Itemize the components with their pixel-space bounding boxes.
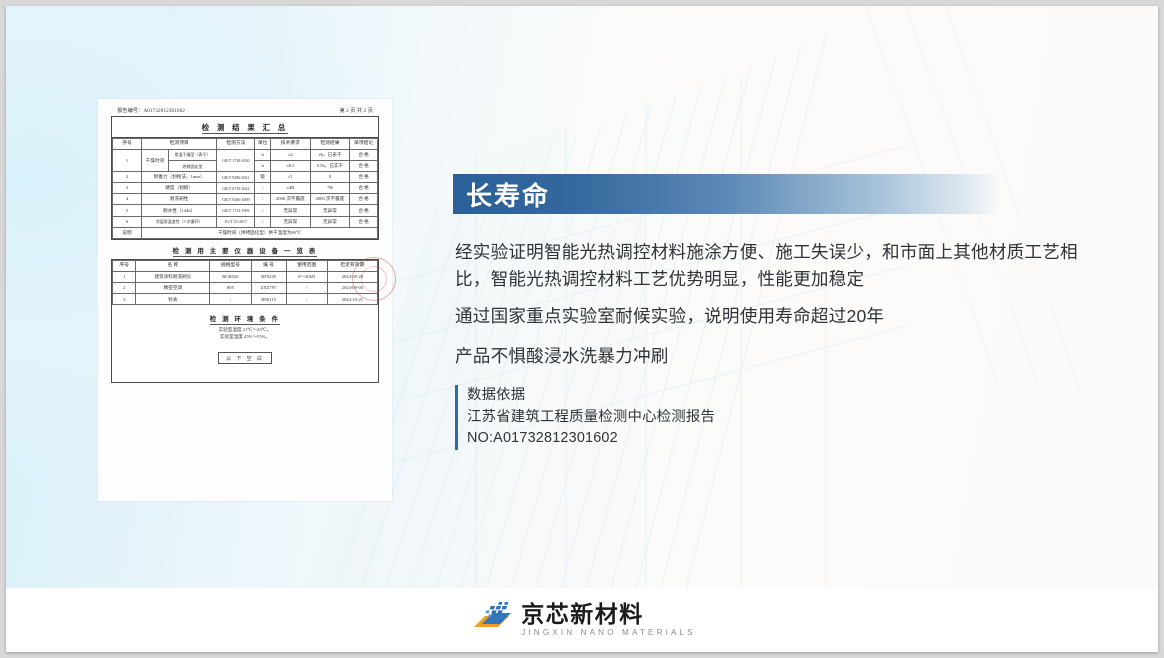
cell-conclusion: 合 格 — [350, 149, 378, 160]
cell-method: GB/T 9286-2021 — [217, 172, 255, 183]
col-unit: 单位 — [255, 138, 271, 149]
eq-no: 3 — [113, 294, 136, 305]
cell-item-sub: 烘烤固化型 — [168, 160, 217, 171]
brand-name-en: JINGXIN NANO MATERIALS — [521, 628, 696, 638]
cell-no: 4 — [113, 194, 142, 205]
table-header-row: 序号 检测项目 检测方法 单位 技术要求 检测结果 单项结论 — [113, 138, 378, 149]
eq-col-name: 名 称 — [136, 260, 210, 271]
cell-requirement: 无异常 — [271, 216, 311, 227]
cell-method: JG/T 25-2017 — [217, 216, 255, 227]
data-source-block: 数据依据 江苏省建筑工程质量检测中心检测报告 NO:A0173281230160… — [455, 385, 887, 450]
cell-conclusion: 合 格 — [350, 194, 378, 205]
eq-serial: ZXZ797 — [251, 283, 286, 294]
table-row: 4 耐洗刷性 GB/T 9266-2009 / 2000 次不露底 2000 次… — [113, 194, 378, 205]
eq-range: / — [286, 294, 327, 305]
cell-conclusion: 合 格 — [350, 172, 378, 183]
cell-requirement: 无异常 — [271, 205, 311, 216]
report-page: 报告编号：A01732812301602 第 2 页 共 2 页 检 测 结 果… — [111, 107, 379, 491]
cell-no: 2 — [113, 172, 142, 183]
report-equipment-box: 序号 名 称 规格型号 编 号 使用范围 检定有效期 1 建筑涂 — [111, 259, 379, 383]
eq-model: BGB526 — [210, 272, 251, 283]
col-no: 序号 — [113, 138, 142, 149]
cell-requirement: ≤1 — [271, 172, 311, 183]
note-text: 干燥时间（烘烤固化型）烘干温度为80℃ — [142, 227, 378, 238]
results-table-title: 检 测 结 果 汇 总 — [112, 117, 378, 138]
cell-result: 无异常 — [310, 216, 350, 227]
col-requirement: 技术要求 — [271, 138, 311, 149]
report-results-box: 检 测 结 果 汇 总 序号 检测项目 检测方法 单位 技术要求 检测结果 — [111, 116, 379, 240]
cell-unit: / — [255, 194, 271, 205]
cell-item-sub: 耐水性（144h） — [142, 205, 217, 216]
cell-result: 7H — [310, 183, 350, 194]
eq-model: / — [210, 294, 251, 305]
cell-conclusion: 合 格 — [350, 160, 378, 171]
cell-result: 0.5h，已实干 — [310, 160, 350, 171]
cell-method: GB/T 1728-2020 — [217, 149, 255, 171]
paragraph-3: 产品不惧酸浸水洗暴力冲刷 — [455, 343, 1101, 370]
report-number: 报告编号：A01732812301602 — [117, 107, 185, 114]
cell-unit: / — [255, 183, 271, 194]
results-table: 序号 检测项目 检测方法 单位 技术要求 检测结果 单项结论 1 — [112, 138, 378, 239]
eq-no: 2 — [113, 283, 136, 294]
eq-no: 1 — [113, 272, 136, 283]
brand-logo-text: 京芯新材料 JINGXIN NANO MATERIALS — [521, 602, 696, 638]
equipment-row: 3 秒表 / H90115 / 2024-10-21 — [113, 294, 378, 305]
test-report-photo[interactable]: 报告编号：A01732812301602 第 2 页 共 2 页 检 测 结 果… — [98, 99, 392, 501]
paragraph-2: 通过国家重点实验室耐候实验，说明使用寿命超过20年 — [455, 303, 1101, 330]
slide-footer: 京芯新材料 JINGXIN NANO MATERIALS — [6, 588, 1158, 652]
cell-unit: 级 — [255, 172, 271, 183]
table-row: 2 附着力（划格法，1mm） GB/T 9286-2021 级 ≤1 0 合 格 — [113, 172, 378, 183]
eq-validity: 2024-09-05 — [327, 283, 377, 294]
cell-item-group: 干燥时间 — [142, 149, 169, 171]
cell-result: 无异常 — [310, 205, 350, 216]
cell-requirement: 2000 次不露底 — [271, 194, 311, 205]
slide: 报告编号：A01732812301602 第 2 页 共 2 页 检 测 结 果… — [6, 6, 1158, 652]
report-header: 报告编号：A01732812301602 第 2 页 共 2 页 — [111, 107, 379, 116]
cell-method: GB/T 1733-1993 — [217, 205, 255, 216]
eq-model: 805 — [210, 283, 251, 294]
cell-no: 6 — [113, 216, 142, 227]
cell-method: GB/T 9266-2009 — [217, 194, 255, 205]
report-page-number: 第 2 页 共 2 页 — [339, 107, 373, 114]
eq-serial: BF0239 — [251, 272, 286, 283]
eq-col-serial: 编 号 — [251, 260, 286, 271]
blank-below-mark: 以 下 空 白 — [218, 352, 272, 364]
brand-name-cn: 京芯新材料 — [521, 602, 696, 627]
cell-result: 2h，已表干 — [310, 149, 350, 160]
col-conclusion: 单项结论 — [350, 138, 378, 149]
paragraph-1: 经实验证明智能光热调控材料施涂方便、施工失误少，和市面上其他材质工艺相比，智能光… — [455, 239, 1101, 293]
table-row: 6 涂层耐温变性（5 次循环） JG/T 25-2017 / 无异常 无异常 合… — [113, 216, 378, 227]
col-item: 检测项目 — [142, 138, 217, 149]
eq-name: 建筑涂料耐洗刷仪 — [136, 272, 210, 283]
cell-unit: h — [255, 149, 271, 160]
cell-unit: h — [255, 160, 271, 171]
cell-requirement: ≥4H — [271, 183, 311, 194]
cell-item-sub: 常温干燥型（表干） — [168, 149, 217, 160]
data-source-number: NO:A01732812301602 — [467, 428, 887, 450]
cell-conclusion: 合 格 — [350, 183, 378, 194]
environment-humidity: 实验室湿度 45%～55%。 — [112, 334, 378, 341]
eq-serial: H90115 — [251, 294, 286, 305]
data-source-label: 数据依据 — [467, 385, 887, 407]
cell-unit: / — [255, 216, 271, 227]
cell-no: 1 — [113, 149, 142, 171]
note-label: 说明 — [113, 227, 142, 238]
eq-validity: 2024-05-28 — [327, 272, 377, 283]
eq-col-model: 规格型号 — [210, 260, 251, 271]
cell-no: 3 — [113, 183, 142, 194]
equipment-table: 序号 名 称 规格型号 编 号 使用范围 检定有效期 1 建筑涂 — [112, 260, 378, 306]
eq-col-range: 使用范围 — [286, 260, 327, 271]
cell-method: GB/T 6739-2022 — [217, 183, 255, 194]
section-title-bar: 长寿命 — [453, 174, 1001, 214]
slide-content-band: 报告编号：A01732812301602 第 2 页 共 2 页 检 测 结 果… — [6, 6, 1158, 588]
cell-result: 2000 次不露底 — [310, 194, 350, 205]
eq-name: 精密空调 — [136, 283, 210, 294]
equipment-row: 1 建筑涂料耐洗刷仪 BGB526 BF0239 0～20kN 2024-05-… — [113, 272, 378, 283]
table-row: 1 干燥时间 常温干燥型（表干） GB/T 1728-2020 h ≤2 2h，… — [113, 149, 378, 160]
right-column: 长寿命 经实验证明智能光热调控材料施涂方便、施工失误少，和市面上其他材质工艺相比… — [453, 6, 1133, 588]
cell-item-sub: 涂层耐温变性（5 次循环） — [142, 216, 217, 227]
equipment-header-row: 序号 名 称 规格型号 编 号 使用范围 检定有效期 — [113, 260, 378, 271]
cell-item-sub: 附着力（划格法，1mm） — [142, 172, 217, 183]
brand-logo: 京芯新材料 JINGXIN NANO MATERIALS — [468, 602, 696, 638]
cell-result: 0 — [310, 172, 350, 183]
eq-range: / — [286, 283, 327, 294]
cell-conclusion: 合 格 — [350, 205, 378, 216]
col-method: 检测方法 — [217, 138, 255, 149]
table-row: 3 硬度（划痕） GB/T 6739-2022 / ≥4H 7H 合 格 — [113, 183, 378, 194]
section-title-text: 长寿命 — [453, 176, 550, 213]
cell-unit: / — [255, 205, 271, 216]
cell-item-sub: 耐洗刷性 — [142, 194, 217, 205]
table-row: 5 耐水性（144h） GB/T 1733-1993 / 无异常 无异常 合 格 — [113, 205, 378, 216]
table-note-row: 说明 干燥时间（烘烤固化型）烘干温度为80℃ — [113, 227, 378, 238]
cell-item-sub: 硬度（划痕） — [142, 183, 217, 194]
environment-title: 检 测 环 境 条 件 — [112, 305, 378, 327]
eq-col-no: 序号 — [113, 260, 136, 271]
eq-validity: 2024-10-21 — [327, 294, 377, 305]
cell-no: 5 — [113, 205, 142, 216]
cell-requirement: ≤0.5 — [271, 160, 311, 171]
col-result: 检测结果 — [310, 138, 350, 149]
equipment-row: 2 精密空调 805 ZXZ797 / 2024-09-05 — [113, 283, 378, 294]
eq-col-validity: 检定有效期 — [327, 260, 377, 271]
eq-name: 秒表 — [136, 294, 210, 305]
cell-conclusion: 合 格 — [350, 216, 378, 227]
jingxin-logo-icon — [468, 602, 512, 638]
cell-requirement: ≤2 — [271, 149, 311, 160]
equipment-table-title: 检 测 用 主 要 仪 器 设 备 一 览 表 — [111, 240, 379, 259]
data-source-org: 江苏省建筑工程质量检测中心检测报告 — [467, 407, 887, 429]
eq-range: 0～20kN — [286, 272, 327, 283]
